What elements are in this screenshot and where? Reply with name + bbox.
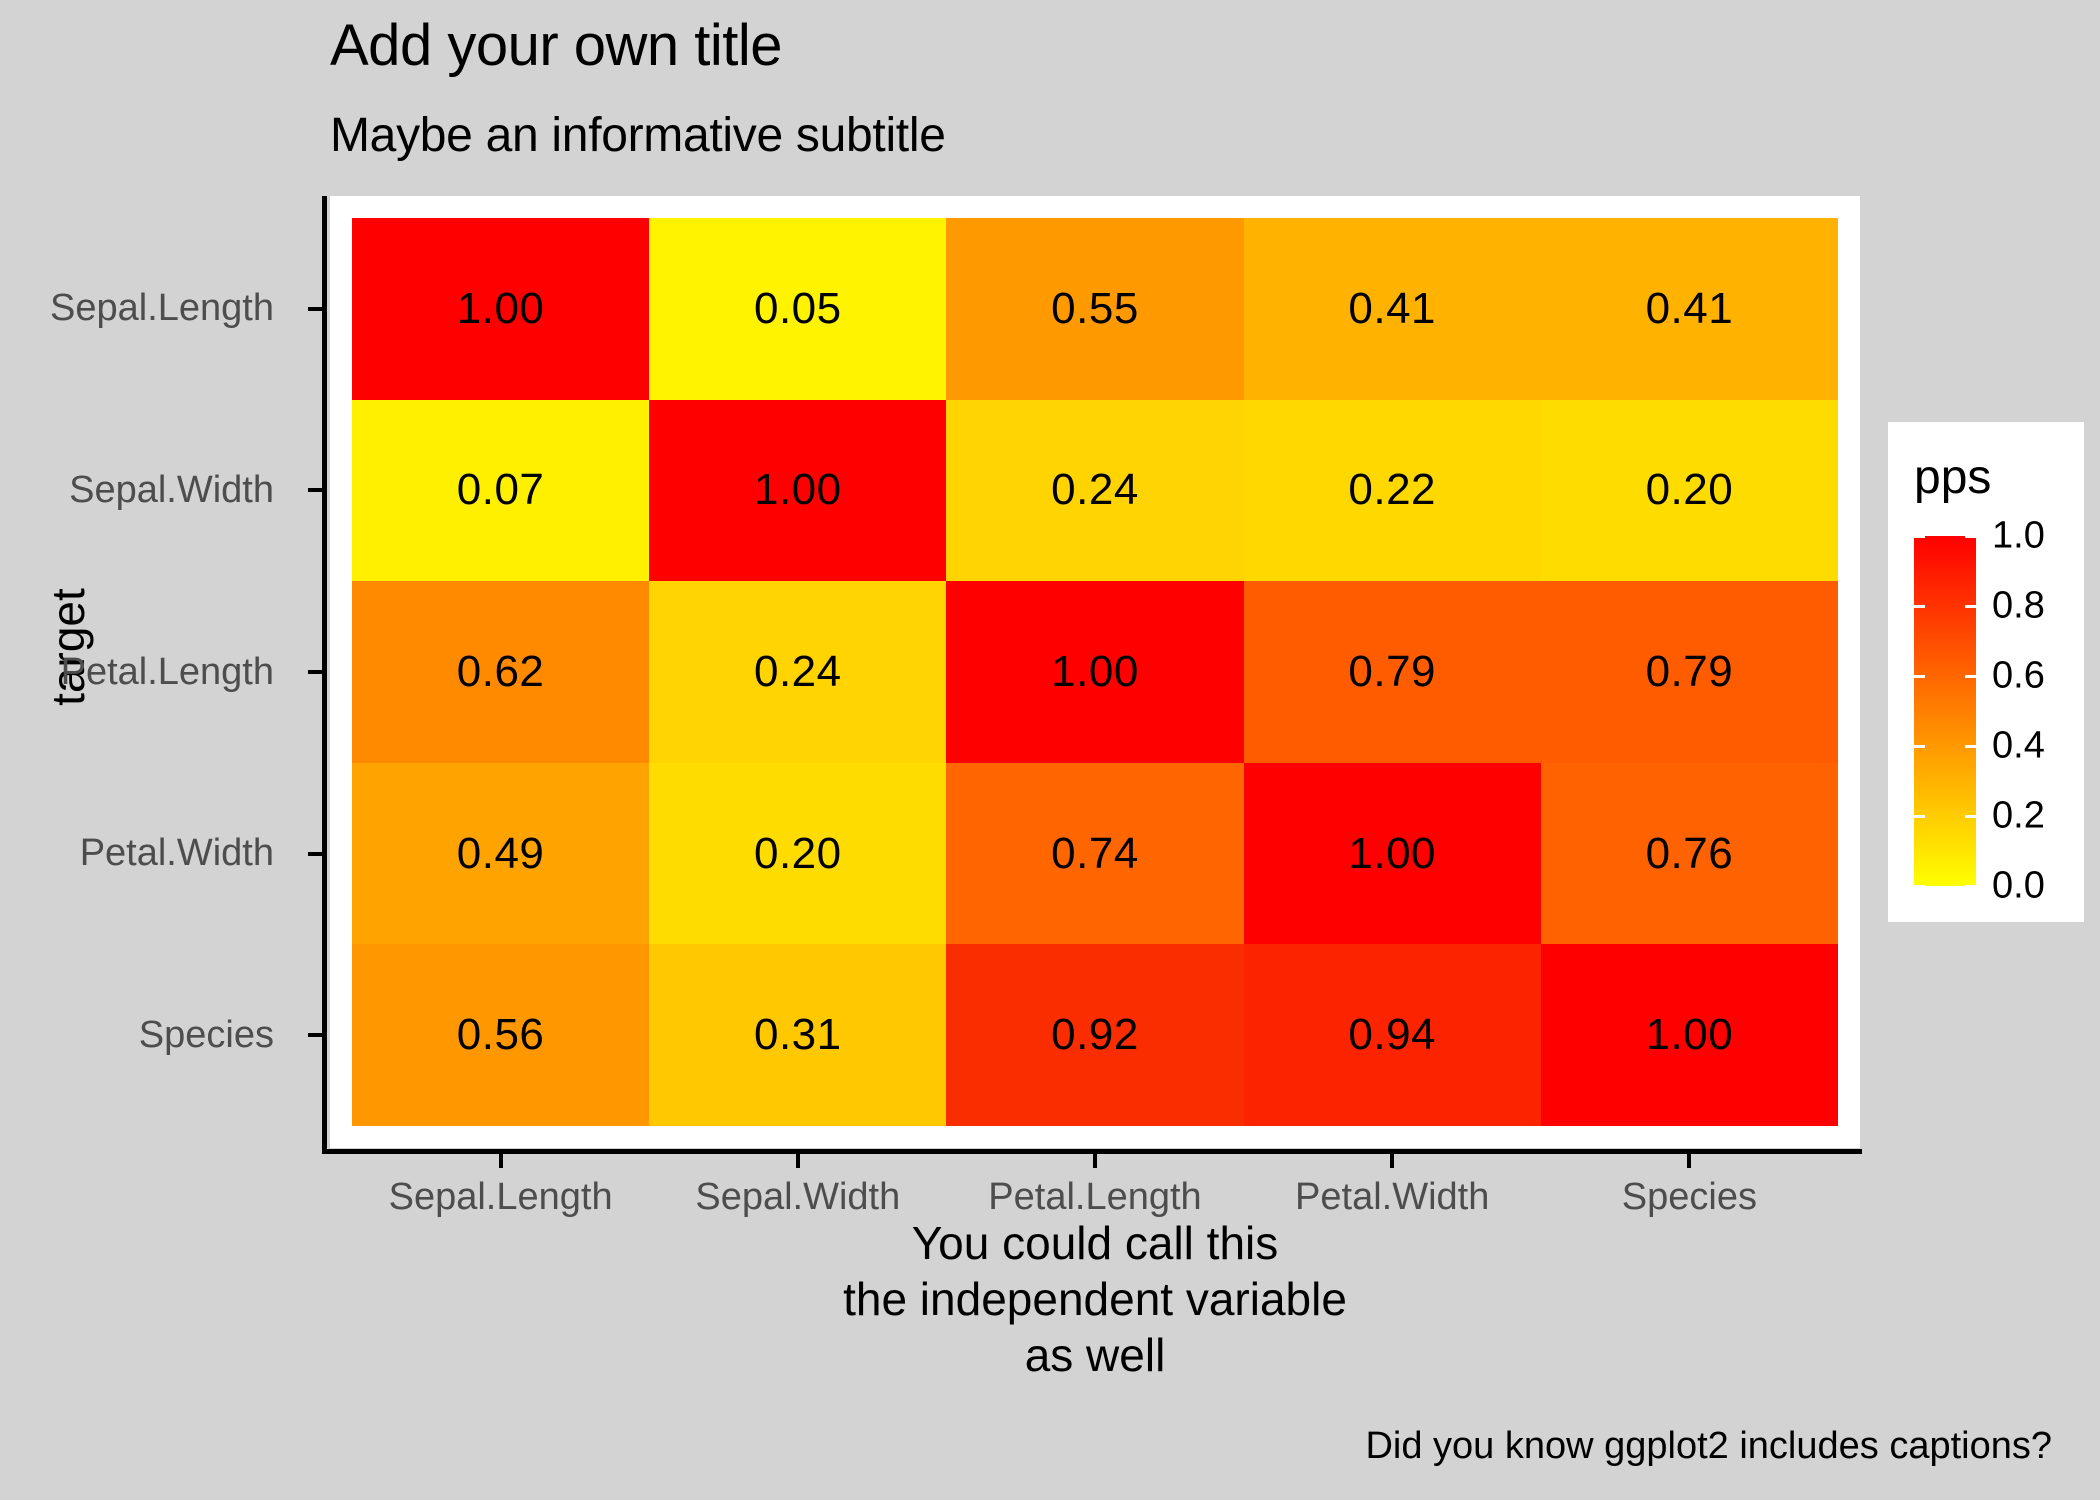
- y-axis-tick-label: Species: [139, 1014, 274, 1057]
- x-axis-tick-label: Species: [1622, 1176, 1757, 1219]
- heatmap-cell-value: 0.62: [457, 647, 545, 697]
- legend-tick-mark: [1914, 675, 1925, 678]
- legend-tick-mark: [1965, 745, 1976, 748]
- heatmap-cell-value: 0.79: [1646, 647, 1734, 697]
- heatmap-cell-value: 0.07: [457, 465, 545, 515]
- plot-panel: 1.000.050.550.410.410.071.000.240.220.20…: [330, 196, 1860, 1148]
- heatmap-cell-value: 0.24: [754, 647, 842, 697]
- heatmap-cell: 0.49: [352, 763, 649, 945]
- heatmap-cell-value: 0.05: [754, 284, 842, 334]
- page-title: Add your own title: [330, 12, 782, 79]
- heatmap-grid: 1.000.050.550.410.410.071.000.240.220.20…: [352, 218, 1838, 1126]
- y-axis-tick-labels: Sepal.LengthSepal.WidthPetal.LengthPetal…: [0, 196, 300, 1148]
- heatmap-cell: 0.79: [1244, 581, 1541, 763]
- x-axis-tick-label: Petal.Width: [1295, 1176, 1489, 1219]
- heatmap-cell-value: 0.49: [457, 829, 545, 879]
- heatmap-cell: 0.24: [946, 400, 1243, 582]
- heatmap-cell-value: 0.31: [754, 1010, 842, 1060]
- y-axis-line: [322, 196, 327, 1154]
- x-axis-tick-label: Sepal.Length: [389, 1176, 613, 1219]
- y-axis-tick-mark: [308, 852, 322, 856]
- x-axis-tick-mark: [796, 1154, 800, 1168]
- legend-tick-mark: [1914, 815, 1925, 818]
- heatmap-cell: 0.22: [1244, 400, 1541, 582]
- x-axis-tick-mark: [1093, 1154, 1097, 1168]
- heatmap-cell-value: 1.00: [1348, 829, 1436, 879]
- legend-tick-mark: [1965, 675, 1976, 678]
- y-axis-tick-mark: [308, 488, 322, 492]
- heatmap-cell-value: 1.00: [457, 284, 545, 334]
- y-axis-tick-label: Sepal.Width: [69, 469, 274, 512]
- legend-tick-mark: [1914, 535, 1925, 538]
- legend-panel: pps 1.00.80.60.40.20.0: [1888, 422, 2084, 922]
- x-axis-tick-labels: Sepal.LengthSepal.WidthPetal.LengthPetal…: [330, 1154, 1860, 1224]
- heatmap-cell-value: 0.74: [1051, 829, 1139, 879]
- chart-caption: Did you know ggplot2 includes captions?: [1365, 1425, 2052, 1468]
- heatmap-cell: 1.00: [1244, 763, 1541, 945]
- x-axis-tick-mark: [499, 1154, 503, 1168]
- heatmap-cell-value: 1.00: [754, 465, 842, 515]
- heatmap-cell-value: 0.20: [1646, 465, 1734, 515]
- heatmap-cell-value: 0.41: [1348, 284, 1436, 334]
- legend-tick-mark: [1965, 605, 1976, 608]
- legend-tick-label: 0.8: [1992, 585, 2045, 628]
- heatmap-cell: 0.56: [352, 944, 649, 1126]
- x-axis-title-line: the independent variable: [330, 1271, 1860, 1327]
- x-axis-title-line: You could call this: [330, 1215, 1860, 1271]
- heatmap-cell: 1.00: [1541, 944, 1838, 1126]
- heatmap-cell: 1.00: [946, 581, 1243, 763]
- y-axis-tick-label: Petal.Width: [80, 832, 274, 875]
- heatmap-cell-value: 0.55: [1051, 284, 1139, 334]
- heatmap-cell-value: 0.76: [1646, 829, 1734, 879]
- heatmap-cell-value: 0.56: [457, 1010, 545, 1060]
- legend-tick-label: 0.6: [1992, 655, 2045, 698]
- y-axis-tick-label: Sepal.Length: [50, 287, 274, 330]
- heatmap-cell-value: 1.00: [1646, 1010, 1734, 1060]
- heatmap-cell: 0.79: [1541, 581, 1838, 763]
- heatmap-cell-value: 0.41: [1646, 284, 1734, 334]
- heatmap-cell: 0.05: [649, 218, 946, 400]
- legend-tick-mark: [1914, 605, 1925, 608]
- heatmap-cell-value: 0.79: [1348, 647, 1436, 697]
- heatmap-cell: 0.94: [1244, 944, 1541, 1126]
- heatmap-cell: 0.24: [649, 581, 946, 763]
- heatmap-cell-value: 0.20: [754, 829, 842, 879]
- heatmap-cell: 0.92: [946, 944, 1243, 1126]
- heatmap-cell: 0.07: [352, 400, 649, 582]
- legend-tick-mark: [1965, 815, 1976, 818]
- heatmap-cell-value: 0.22: [1348, 465, 1436, 515]
- x-axis-tick-label: Petal.Length: [988, 1176, 1201, 1219]
- x-axis-tick-label: Sepal.Width: [695, 1176, 900, 1219]
- chart-subtitle: Maybe an informative subtitle: [330, 108, 946, 163]
- legend-colorbar: [1914, 536, 1976, 886]
- x-axis-tick-mark: [1687, 1154, 1691, 1168]
- heatmap-cell: 0.62: [352, 581, 649, 763]
- y-axis-tick-label: Petal.Length: [61, 651, 274, 694]
- legend-tick-mark: [1914, 745, 1925, 748]
- heatmap-cell: 0.74: [946, 763, 1243, 945]
- heatmap-cell: 0.41: [1541, 218, 1838, 400]
- legend-tick-label: 0.4: [1992, 725, 2045, 768]
- heatmap-cell-value: 0.92: [1051, 1010, 1139, 1060]
- heatmap-cell: 0.41: [1244, 218, 1541, 400]
- y-axis-tick-mark: [308, 1033, 322, 1037]
- legend-tick-label: 1.0: [1992, 515, 2045, 558]
- legend-tick-label: 0.2: [1992, 795, 2045, 838]
- heatmap-cell-value: 1.00: [1051, 647, 1139, 697]
- legend-tick-mark: [1965, 535, 1976, 538]
- legend-tick-mark: [1914, 885, 1925, 888]
- heatmap-cell-value: 0.94: [1348, 1010, 1436, 1060]
- chart-root: Add your own title Maybe an informative …: [0, 0, 2100, 1500]
- y-axis-tick-mark: [308, 307, 322, 311]
- heatmap-cell: 0.20: [1541, 400, 1838, 582]
- heatmap-cell: 0.20: [649, 763, 946, 945]
- legend-tick-mark: [1965, 885, 1976, 888]
- x-axis-tick-mark: [1390, 1154, 1394, 1168]
- legend-tick-label: 0.0: [1992, 865, 2045, 908]
- y-axis-tick-mark: [308, 670, 322, 674]
- x-axis-title: You could call thisthe independent varia…: [330, 1215, 1860, 1383]
- heatmap-cell: 0.76: [1541, 763, 1838, 945]
- heatmap-cell: 0.55: [946, 218, 1243, 400]
- legend-title: pps: [1914, 450, 1991, 505]
- heatmap-cell: 0.31: [649, 944, 946, 1126]
- heatmap-cell: 1.00: [352, 218, 649, 400]
- heatmap-cell-value: 0.24: [1051, 465, 1139, 515]
- x-axis-title-line: as well: [330, 1327, 1860, 1383]
- heatmap-cell: 1.00: [649, 400, 946, 582]
